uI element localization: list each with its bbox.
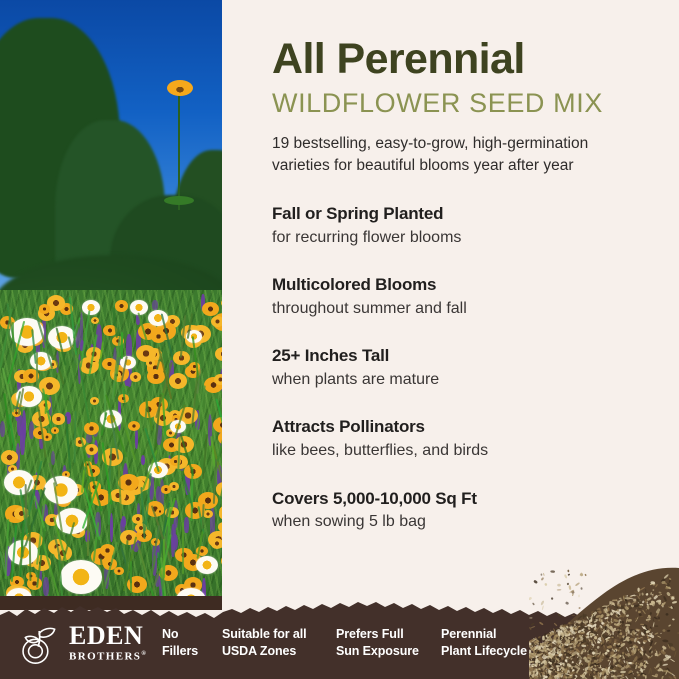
yellow-flower-icon — [156, 508, 164, 515]
footer-badge-usda-zones: Suitable for all USDA Zones — [222, 626, 307, 660]
badge-line2: Sun Exposure — [336, 643, 419, 660]
yellow-flower-icon — [91, 317, 100, 324]
product-description: 19 bestselling, easy-to-grow, high-germi… — [272, 117, 622, 177]
feature-subtext: throughout summer and fall — [272, 296, 672, 320]
yellow-flower-icon — [169, 373, 187, 389]
footer-badge-no-fillers: No Fillers — [162, 626, 198, 660]
white-daisy-icon — [196, 556, 218, 574]
page-title: All Perennial — [272, 0, 672, 81]
brand-name-bottom: BROTHERS® — [69, 649, 147, 663]
brand-name-bottom-text: BROTHERS — [69, 651, 141, 663]
brand-logo[interactable]: EDEN BROTHERS® — [18, 621, 147, 665]
yellow-flower-icon — [1, 450, 18, 465]
content-column: All Perennial WILDFLOWER SEED MIX 19 bes… — [272, 0, 672, 610]
wildflower-seed-pile-image — [529, 560, 679, 679]
badge-line2: Plant Lifecycle — [441, 643, 527, 660]
grass-blade — [163, 539, 165, 578]
feature-subtext: for recurring flower blooms — [272, 225, 672, 249]
yellow-flower-icon — [175, 548, 192, 563]
feature-subtext: like bees, butterflies, and birds — [272, 438, 672, 462]
white-daisy-icon — [82, 300, 100, 315]
yellow-flower-icon — [118, 474, 138, 491]
badge-line1: No — [162, 626, 198, 643]
purple-flower-icon — [20, 423, 25, 455]
badge-line1: Perennial — [441, 626, 527, 643]
flower-stem — [178, 90, 180, 210]
feature-heading: Covers 5,000-10,000 Sq Ft — [272, 488, 672, 509]
feature-item: Fall or Spring Planted for recurring flo… — [272, 203, 672, 248]
feature-item: Covers 5,000-10,000 Sq Ft when sowing 5 … — [272, 488, 672, 533]
leaf-icon — [164, 196, 194, 205]
badge-line2: Fillers — [162, 643, 198, 660]
purple-flower-icon — [135, 428, 138, 449]
product-feature-card: All Perennial WILDFLOWER SEED MIX 19 bes… — [0, 0, 679, 679]
feature-item: 25+ Inches Tall when plants are mature — [272, 345, 672, 390]
yellow-flower-icon — [211, 538, 222, 548]
feature-heading: Attracts Pollinators — [272, 416, 672, 437]
grass-blade — [182, 523, 184, 574]
page-subtitle: WILDFLOWER SEED MIX — [272, 81, 672, 117]
purple-flower-icon — [141, 455, 145, 465]
feature-subtext: when plants are mature — [272, 367, 672, 391]
yellow-flower-icon — [39, 304, 51, 314]
feature-heading: 25+ Inches Tall — [272, 345, 672, 366]
purple-flower-icon — [172, 534, 178, 551]
registered-mark: ® — [141, 651, 147, 657]
brand-name-top: EDEN — [69, 623, 147, 649]
footer-badge-sun-exposure: Prefers Full Sun Exposure — [336, 626, 419, 660]
feature-item: Attracts Pollinators like bees, butterfl… — [272, 416, 672, 461]
grass-blade — [36, 352, 38, 386]
yellow-flower-icon — [211, 316, 222, 327]
yellow-flower-icon — [147, 369, 164, 384]
grass-blade — [121, 332, 123, 359]
purple-flower-icon — [110, 513, 113, 542]
feature-heading: Multicolored Blooms — [272, 274, 672, 295]
feature-subtext: when sowing 5 lb bag — [272, 509, 672, 533]
yellow-flower-icon — [114, 567, 124, 575]
yellow-flower-icon — [90, 397, 99, 405]
seed-pile-graphic — [529, 560, 679, 679]
feature-item: Multicolored Blooms throughout summer an… — [272, 274, 672, 319]
footer-badge-plant-lifecycle: Perennial Plant Lifecycle — [441, 626, 527, 660]
seed-sprout-icon — [18, 621, 62, 665]
badge-line1: Suitable for all — [222, 626, 307, 643]
feature-heading: Fall or Spring Planted — [272, 203, 672, 224]
white-daisy-icon — [44, 476, 78, 504]
wildflower-meadow-photo — [0, 0, 222, 610]
badge-line1: Prefers Full — [336, 626, 419, 643]
yellow-flower-icon — [52, 413, 65, 424]
footer-bar: EDEN BROTHERS® No Fillers Suitable for a… — [0, 585, 679, 679]
yellow-flower-icon — [167, 80, 193, 96]
purple-flower-icon — [184, 517, 188, 533]
brand-wordmark: EDEN BROTHERS® — [69, 623, 147, 663]
badge-line2: USDA Zones — [222, 643, 307, 660]
purple-flower-icon — [152, 300, 157, 310]
yellow-flower-icon — [218, 522, 222, 532]
